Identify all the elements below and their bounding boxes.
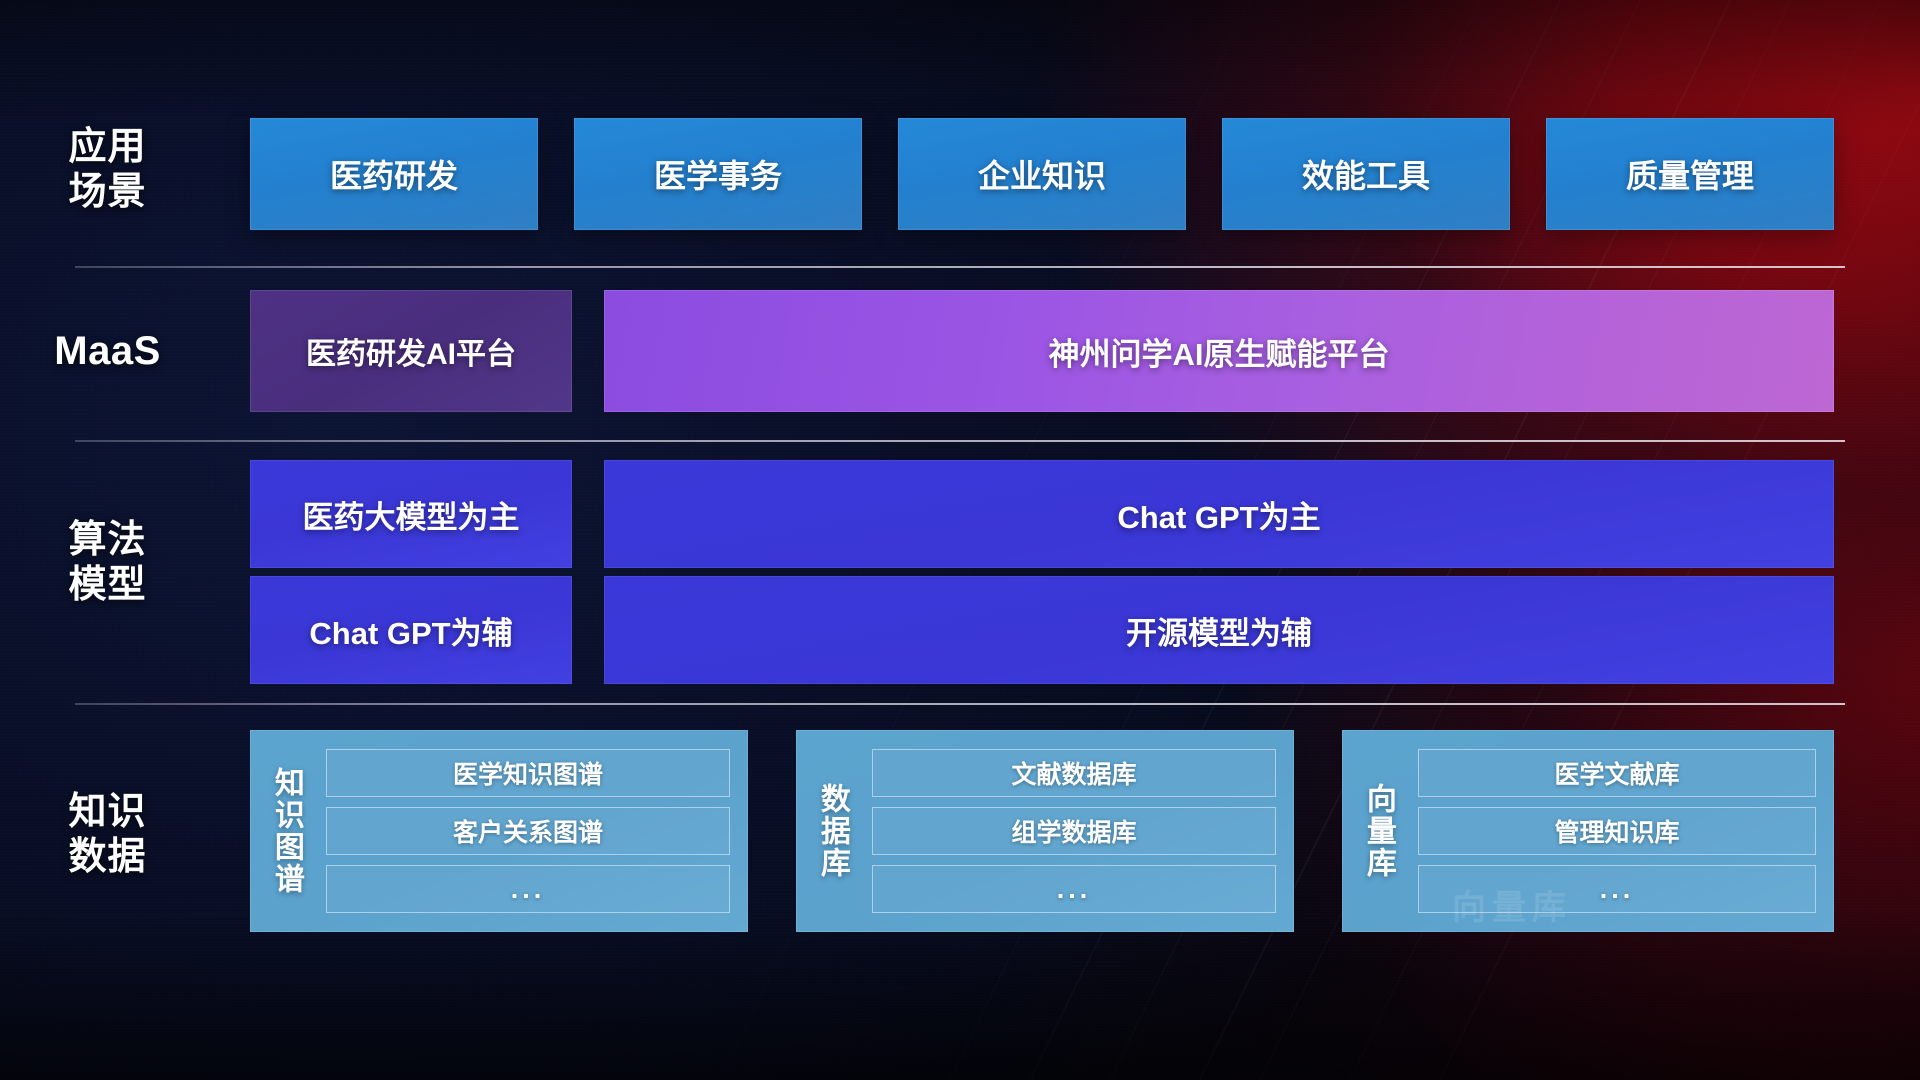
algo-card-right-1-label: Chat GPT为主 bbox=[1117, 492, 1320, 537]
knowledge-item[interactable]: 组学数据库 bbox=[872, 807, 1276, 855]
algo-card-left-2-label: Chat GPT为辅 bbox=[309, 608, 512, 653]
row-label-knowledge-data: 知识 数据 bbox=[0, 790, 215, 880]
divider-2 bbox=[75, 440, 1845, 442]
app-card-1[interactable]: 医药研发 bbox=[250, 118, 538, 230]
algo-card-right-2[interactable]: 开源模型为辅 bbox=[604, 576, 1834, 684]
knowledge-panel-knowledge-graph-title: 知识图谱 bbox=[250, 767, 322, 895]
divider-3 bbox=[75, 703, 1845, 705]
app-card-1-label: 医药研发 bbox=[330, 151, 458, 197]
algo-card-left-2[interactable]: Chat GPT为辅 bbox=[250, 576, 572, 684]
app-card-2[interactable]: 医学事务 bbox=[574, 118, 862, 230]
algo-card-left-1[interactable]: 医药大模型为主 bbox=[250, 460, 572, 568]
maas-card-pharma-ai-platform-label: 医药研发AI平台 bbox=[306, 329, 516, 373]
row-label-maas: MaaS bbox=[0, 328, 215, 375]
knowledge-panel-knowledge-graph[interactable]: 知识图谱 医学知识图谱 客户关系图谱 ... bbox=[250, 730, 748, 932]
knowledge-panel-knowledge-graph-items: 医学知识图谱 客户关系图谱 ... bbox=[322, 735, 748, 927]
knowledge-panel-vector-db[interactable]: 向量库 医学文献库 管理知识库 ... bbox=[1342, 730, 1834, 932]
app-card-5[interactable]: 质量管理 bbox=[1546, 118, 1834, 230]
app-card-3[interactable]: 企业知识 bbox=[898, 118, 1186, 230]
knowledge-panel-database-title: 数据库 bbox=[796, 783, 868, 879]
app-card-4[interactable]: 效能工具 bbox=[1222, 118, 1510, 230]
row-label-algorithm-model: 算法 模型 bbox=[0, 518, 215, 608]
knowledge-item[interactable]: 医学知识图谱 bbox=[326, 749, 730, 797]
maas-card-shenzhou-wenxue-platform-label: 神州问学AI原生赋能平台 bbox=[1049, 329, 1390, 374]
algo-card-left-1-label: 医药大模型为主 bbox=[303, 492, 520, 537]
knowledge-item[interactable]: 管理知识库 bbox=[1418, 807, 1816, 855]
knowledge-item-more[interactable]: ... bbox=[1418, 865, 1816, 913]
row-label-application-scenario: 应用 场景 bbox=[0, 125, 215, 215]
knowledge-item-more[interactable]: ... bbox=[872, 865, 1276, 913]
divider-1 bbox=[75, 266, 1845, 268]
knowledge-panel-database[interactable]: 数据库 文献数据库 组学数据库 ... bbox=[796, 730, 1294, 932]
app-card-5-label: 质量管理 bbox=[1626, 151, 1754, 197]
app-card-4-label: 效能工具 bbox=[1302, 151, 1430, 197]
knowledge-item[interactable]: 医学文献库 bbox=[1418, 749, 1816, 797]
architecture-diagram: 应用 场景 医药研发 医学事务 企业知识 效能工具 质量管理 MaaS 医药研发… bbox=[0, 0, 1920, 1080]
algo-card-right-2-label: 开源模型为辅 bbox=[1126, 608, 1312, 653]
app-card-3-label: 企业知识 bbox=[978, 151, 1106, 197]
algo-card-right-1[interactable]: Chat GPT为主 bbox=[604, 460, 1834, 568]
knowledge-item[interactable]: 文献数据库 bbox=[872, 749, 1276, 797]
knowledge-panel-database-items: 文献数据库 组学数据库 ... bbox=[868, 735, 1294, 927]
knowledge-item[interactable]: 客户关系图谱 bbox=[326, 807, 730, 855]
knowledge-panel-vector-db-items: 医学文献库 管理知识库 ... bbox=[1414, 735, 1834, 927]
app-card-2-label: 医学事务 bbox=[654, 151, 782, 197]
maas-card-shenzhou-wenxue-platform[interactable]: 神州问学AI原生赋能平台 bbox=[604, 290, 1834, 412]
knowledge-panel-vector-db-title: 向量库 bbox=[1342, 783, 1414, 879]
maas-card-pharma-ai-platform[interactable]: 医药研发AI平台 bbox=[250, 290, 572, 412]
knowledge-item-more[interactable]: ... bbox=[326, 865, 730, 913]
